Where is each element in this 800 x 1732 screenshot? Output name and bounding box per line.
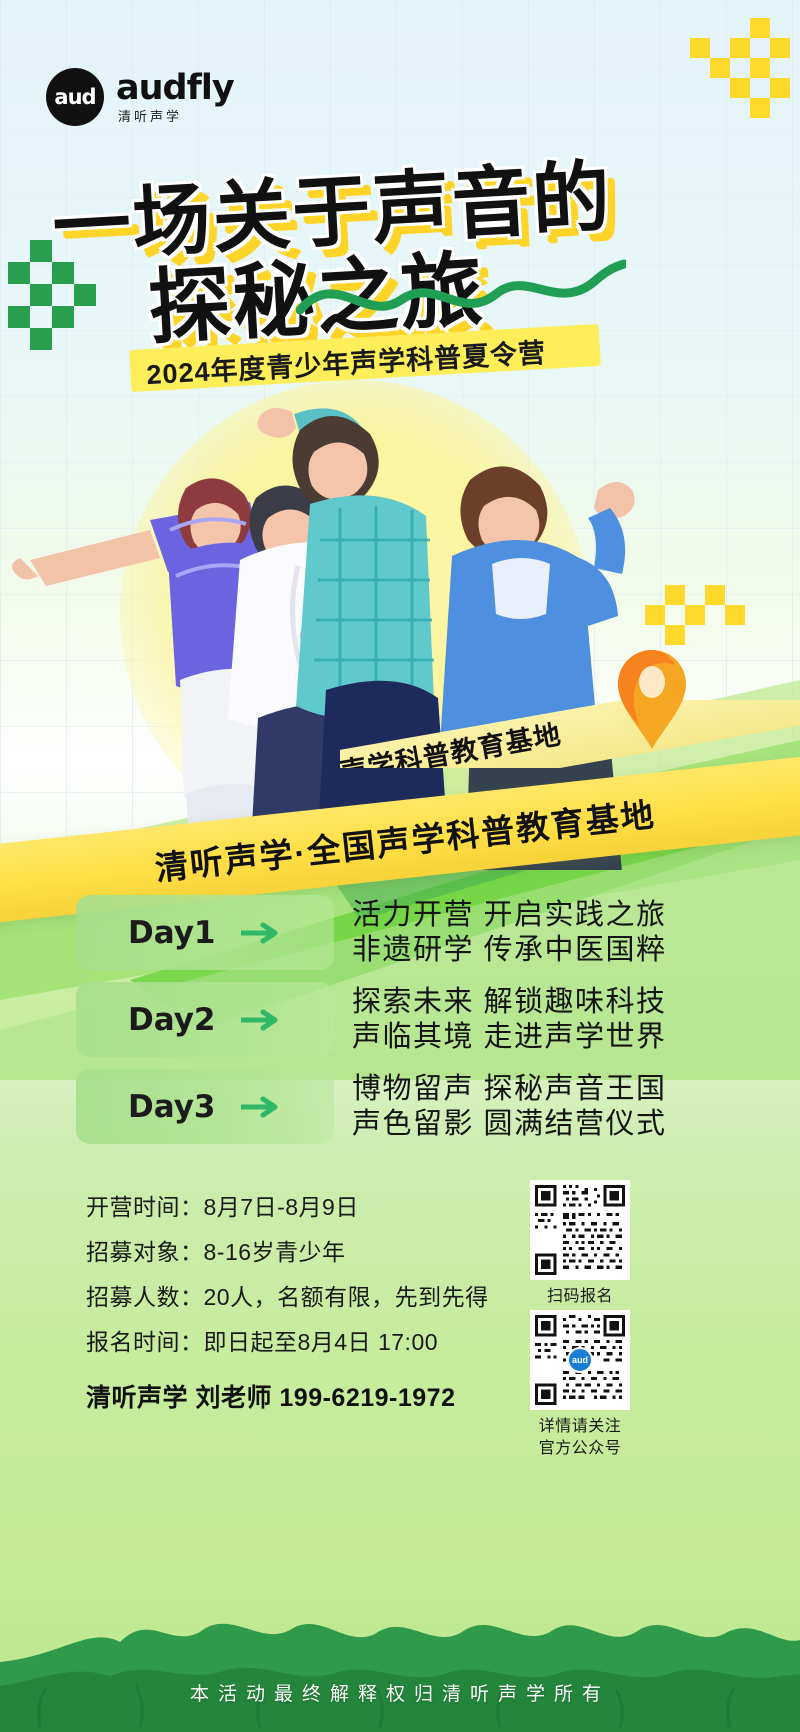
day-text-line2: 声色留影 圆满结营仪式 <box>352 1107 667 1142</box>
qr-follow-caption-line2: 官方公众号 <box>530 1438 630 1460</box>
day-text-line2: 声临其境 走进声学世界 <box>352 1020 667 1055</box>
base-banner-wrap: 声学科普教育基地 <box>340 700 800 768</box>
footer-grass-decor <box>0 1602 800 1732</box>
qr-follow-code[interactable]: aud <box>530 1310 630 1410</box>
wave-squiggle-decor <box>296 258 626 328</box>
day-text: 活力开营 开启实践之旅 非遗研学 传承中医国粹 <box>352 898 667 968</box>
brand-logo[interactable]: aud audfly 清听声学 <box>46 68 234 126</box>
info-audience: 招募对象：8-16岁青少年 <box>86 1230 556 1275</box>
qr-signup-pattern <box>535 1185 625 1275</box>
day-text-line1: 博物留声 探秘声音王国 <box>352 1072 667 1107</box>
day-label: Day1 <box>128 915 215 951</box>
schedule-list: Day1 活力开营 开启实践之旅 非遗研学 传承中医国粹 Day2 探索未来 解… <box>0 895 800 1156</box>
info-capacity: 招募人数：20人，名额有限，先到先得 <box>86 1275 556 1320</box>
logo-text-group: audfly 清听声学 <box>116 71 234 123</box>
logo-chinese-name: 清听声学 <box>118 110 234 123</box>
day-pill: Day1 <box>76 895 334 970</box>
schedule-row-day2[interactable]: Day2 探索未来 解锁趣味科技 声临其境 走进声学世界 <box>0 982 800 1057</box>
schedule-row-day1[interactable]: Day1 活力开营 开启实践之旅 非遗研学 传承中医国粹 <box>0 895 800 970</box>
day-label: Day2 <box>128 1002 215 1038</box>
day-pill: Day3 <box>76 1069 334 1144</box>
schedule-row-day3[interactable]: Day3 博物留声 探秘声音王国 声色留影 圆满结营仪式 <box>0 1069 800 1144</box>
arrow-right-icon <box>241 1096 285 1118</box>
arrow-right-icon <box>241 922 285 944</box>
info-contact: 清听声学 刘老师 199-6219-1972 <box>86 1378 456 1414</box>
footer-disclaimer: 本活动最终解释权归清听声学所有 <box>0 1679 800 1706</box>
qr-follow-caption-line1: 详情请关注 <box>530 1416 630 1438</box>
day-text: 博物留声 探秘声音王国 声色留影 圆满结营仪式 <box>352 1072 667 1142</box>
logo-wordmark: audfly <box>116 71 234 106</box>
checker-decor-top-right <box>600 18 790 128</box>
qr-center-logo-icon: aud <box>567 1347 593 1373</box>
location-pin-icon <box>615 648 689 752</box>
day-text-line2: 非遗研学 传承中医国粹 <box>352 933 667 968</box>
day-pill: Day2 <box>76 982 334 1057</box>
day-text-line1: 探索未来 解锁趣味科技 <box>352 985 667 1020</box>
logo-mark-icon: aud <box>46 68 104 126</box>
logo-mark-text: aud <box>54 85 95 109</box>
qr-follow-block[interactable]: aud 详情请关注 官方公众号 <box>530 1310 630 1460</box>
qr-signup-block[interactable]: 扫码报名 <box>530 1180 630 1308</box>
qr-signup-code[interactable] <box>530 1180 630 1280</box>
day-text-line1: 活力开营 开启实践之旅 <box>352 898 667 933</box>
poster-canvas: aud audfly 清听声学 一场关于声音的 探秘之旅 2024年度青少年声学… <box>0 0 800 1732</box>
info-block: 开营时间：8月7日-8月9日 招募对象：8-16岁青少年 招募人数：20人，名额… <box>86 1185 556 1365</box>
day-text: 探索未来 解锁趣味科技 声临其境 走进声学世界 <box>352 985 667 1055</box>
qr-follow-caption: 详情请关注 官方公众号 <box>530 1416 630 1460</box>
qr-signup-caption: 扫码报名 <box>530 1286 630 1308</box>
day-label: Day3 <box>128 1089 215 1125</box>
info-camp-dates: 开营时间：8月7日-8月9日 <box>86 1185 556 1230</box>
arrow-right-icon <box>241 1009 285 1031</box>
info-signup-deadline: 报名时间：即日起至8月4日 17:00 <box>86 1320 556 1365</box>
